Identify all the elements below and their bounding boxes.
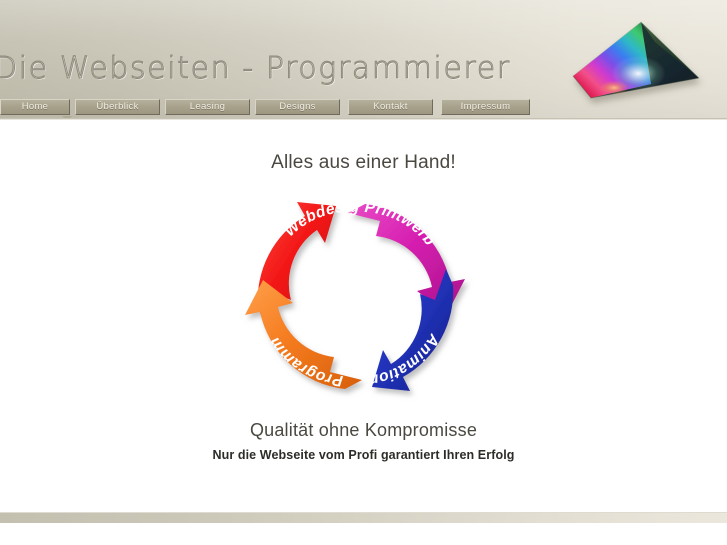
nav-item-leasing[interactable]: Leasing (165, 99, 250, 115)
tagline-sub: Nur die Webseite vom Profi garantiert Ih… (0, 448, 727, 462)
cycle-label-webdesign: Webdesign (233, 190, 360, 240)
site-title: Die Webseiten - Programmierer (0, 54, 511, 84)
page-headline: Alles aus einer Hand! (0, 152, 727, 174)
cycle-diagram-svg: Webdesign Printwerbung Animationen Progr… (233, 190, 478, 405)
nav-item-designs[interactable]: Designs (255, 99, 340, 115)
prism-pyramid-logo (559, 12, 709, 108)
site-header: Die Webseiten - Programmierer (0, 0, 727, 118)
nav-item-impressum[interactable]: Impressum (441, 99, 530, 115)
nav-item--berblick[interactable]: Überblick (75, 99, 160, 115)
nav-item-kontakt[interactable]: Kontakt (348, 99, 433, 115)
tagline-main: Qualität ohne Kompromisse (0, 420, 727, 441)
main-content: Alles aus einer Hand! (0, 120, 727, 512)
prism-pyramid-icon (559, 12, 709, 108)
nav-item-home[interactable]: Home (0, 99, 70, 115)
footer-area (0, 523, 727, 545)
main-navigation[interactable]: HomeÜberblickLeasingDesignsKontaktImpres… (0, 99, 727, 116)
services-cycle-diagram: Webdesign Printwerbung Animationen Progr… (233, 190, 478, 405)
